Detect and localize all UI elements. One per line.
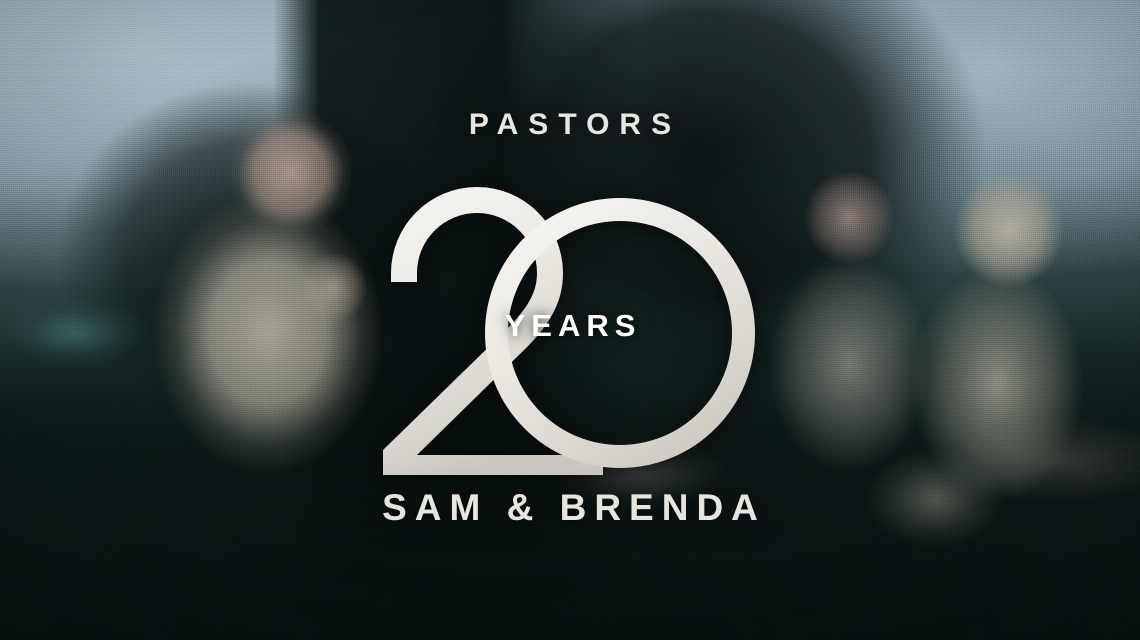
pastors-label: PASTORS [0,108,1140,142]
years-label: YEARS [0,308,1140,344]
anniversary-lockup: PASTORS [0,0,1140,640]
sam-and-brenda-label: SAM & BRENDA [0,487,1140,529]
anniversary-title-card: PASTORS [0,0,1140,640]
